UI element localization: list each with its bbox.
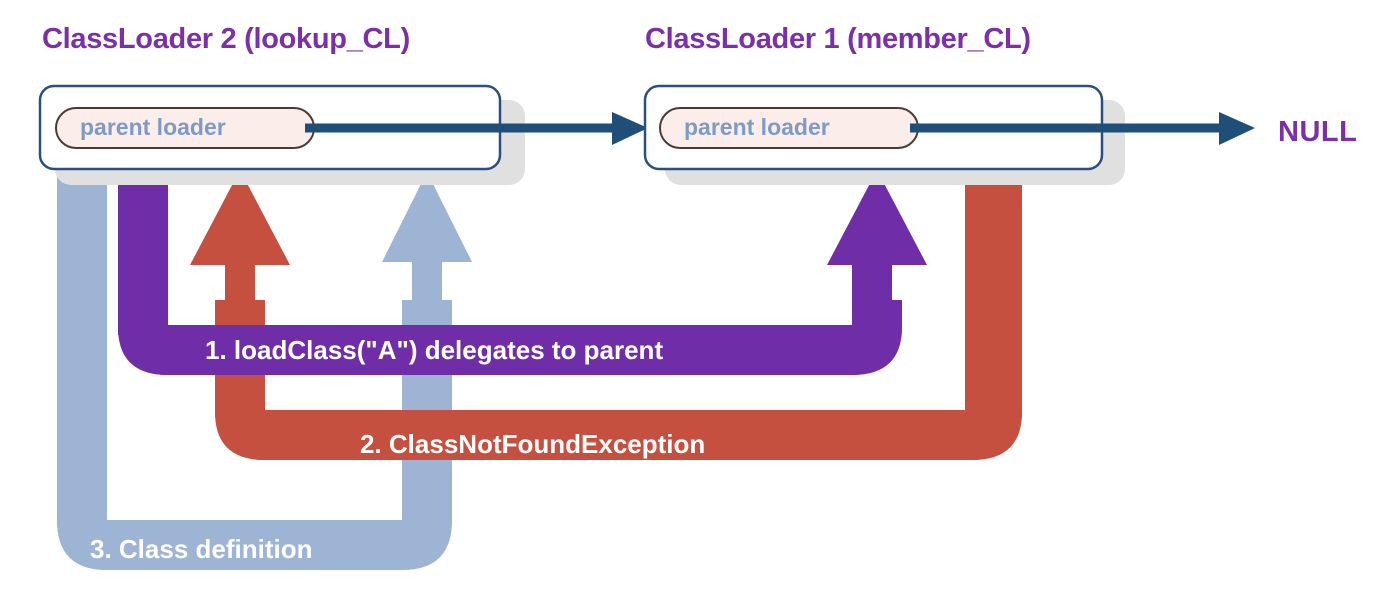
step2-label: 2. ClassNotFoundException [360,429,705,459]
null-label: NULL [1278,116,1357,148]
step1-left-leg [118,170,168,335]
diagram-canvas: parent loader ClassLoader 2 (lookup_CL) … [0,0,1400,603]
classloader-1-parent-loader-label: parent loader [684,114,830,140]
classloader-2-box-group[interactable]: parent loader ClassLoader 2 (lookup_CL) [40,23,525,185]
arrow-right-icon-2 [1219,112,1255,145]
classloader-delegation-diagram: parent loader ClassLoader 2 (lookup_CL) … [0,0,1400,603]
step2-right-leg [965,170,1022,415]
step1-arrow-up-icon [827,170,927,325]
step3-arrow-up-icon-fill [382,172,472,305]
step2-arrow-up-icon [190,170,290,300]
arrow-right-icon-1 [612,112,648,145]
classloader-1-title: ClassLoader 1 (member_CL) [645,23,1031,55]
classloader-2-title: ClassLoader 2 (lookup_CL) [42,23,410,55]
classloader-1-box-group[interactable]: parent loader ClassLoader 1 (member_CL) [645,23,1125,185]
classloader-2-parent-loader-label: parent loader [80,114,226,140]
step1-label: 1. loadClass("A") delegates to parent [205,335,663,365]
step3-label: 3. Class definition [90,534,313,564]
